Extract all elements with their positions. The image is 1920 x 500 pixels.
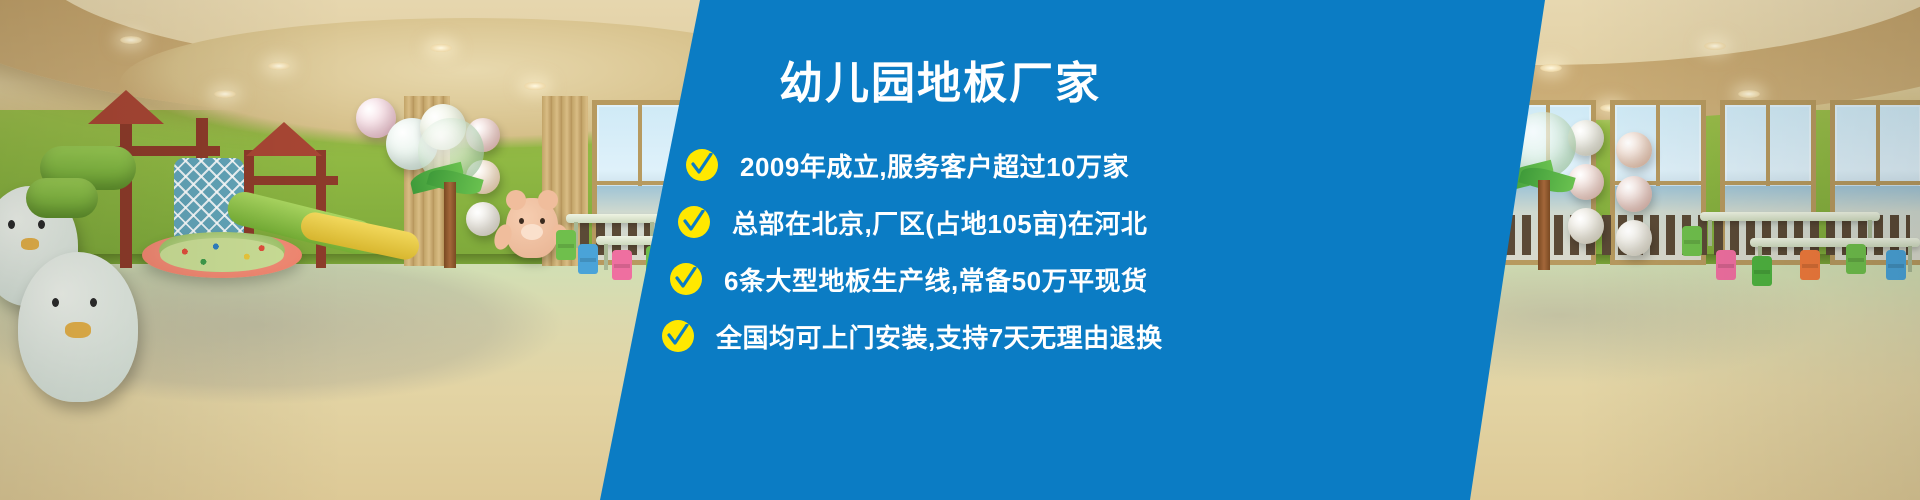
check-circle-icon [670,263,702,295]
check-circle-icon [678,206,710,238]
list-item: 总部在北京,厂区(占地105亩)在河北 [660,197,1220,247]
list-item: 6条大型地板生产线,常备50万平现货 [660,254,1220,304]
feature-list: 2009年成立,服务客户超过10万家 总部在北京,厂区(占地105亩)在河北 [660,140,1220,368]
list-item-label: 总部在北京,厂区(占地105亩)在河北 [732,204,1147,241]
check-circle-icon [686,149,718,181]
list-item-label: 全国均可上门安装,支持7天无理由退换 [716,318,1163,355]
panel-content: 幼儿园地板厂家 2009年成立,服务客户超过10万家 [660,0,1220,500]
check-circle-icon [662,320,694,352]
list-item-label: 2009年成立,服务客户超过10万家 [740,147,1129,184]
list-item: 2009年成立,服务客户超过10万家 [660,140,1220,190]
promo-banner: 幼儿园地板厂家 2009年成立,服务客户超过10万家 [0,0,1920,500]
list-item: 全国均可上门安装,支持7天无理由退换 [660,311,1220,361]
page-title: 幼儿园地板厂家 [660,62,1220,106]
list-item-label: 6条大型地板生产线,常备50万平现货 [724,261,1148,298]
